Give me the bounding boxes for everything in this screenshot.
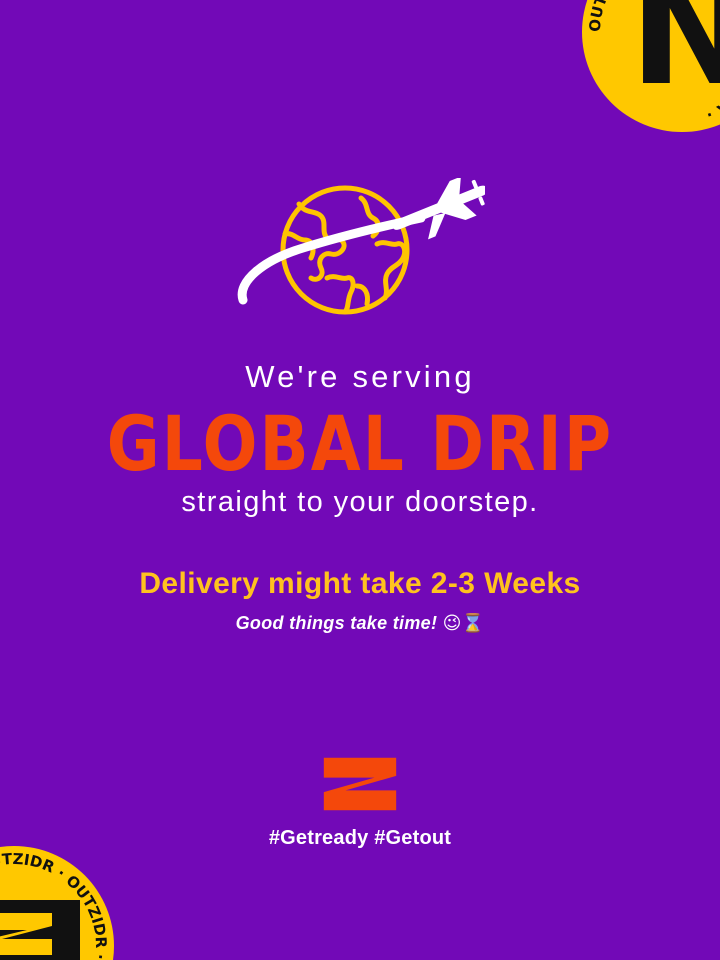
headline-text: GLOBAL DRIP: [0, 404, 720, 483]
airplane-icon: [385, 178, 485, 250]
tagline-text: Good things take time! 😉⌛: [0, 614, 720, 634]
z-logo-icon: [322, 755, 398, 813]
tagline-label: Good things take time!: [236, 613, 438, 633]
delivery-notice-text: Delivery might take 2-3 Weeks: [0, 567, 720, 600]
brand-badge-top-right: OUTZIDR · OUTZIDR · OUTZIDR · OUTZIDR · …: [582, 0, 720, 132]
footer-lockup: #Getready #Getout: [0, 755, 720, 848]
hero-illustration: [0, 178, 720, 338]
brand-badge-bottom-left: OUTZIDR · OUTZIDR · OUTZIDR · OUTZIDR · …: [0, 846, 114, 960]
hashtags-text: #Getready #Getout: [269, 828, 451, 848]
copy-block: We're serving GLOBAL DRIP straight to yo…: [0, 360, 720, 634]
badge-core-block: OUT Z IDR: [0, 900, 80, 960]
wink-face-icon: 😉: [443, 613, 462, 634]
badge-big-letter: N: [629, 0, 720, 107]
promo-poster: OUTZIDR · OUTZIDR · OUTZIDR · OUTZIDR · …: [0, 0, 720, 960]
z-logo-icon: [0, 911, 56, 957]
hourglass-icon: ⌛: [462, 613, 485, 634]
subhead-text: straight to your doorstep.: [0, 487, 720, 519]
eyebrow-text: We're serving: [0, 360, 720, 394]
